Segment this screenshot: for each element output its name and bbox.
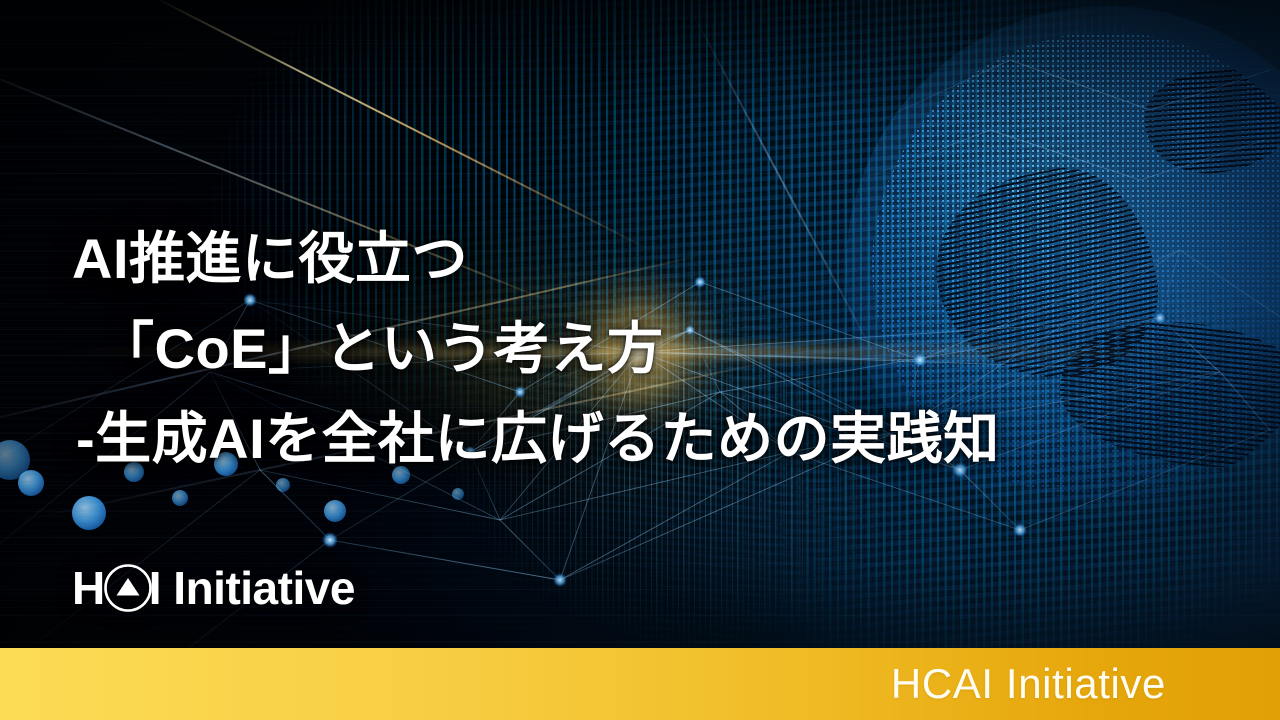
footer-bar: HCAI Initiative xyxy=(0,648,1280,720)
slide-title: AI推進に役立つ 「CoE」という考え方 -生成AIを全社に広げるための実践知 xyxy=(72,214,1232,484)
network-node-dot xyxy=(0,440,30,480)
network-node-dot xyxy=(72,496,106,530)
logo-letter-h: H xyxy=(72,565,105,611)
network-node-dot xyxy=(172,490,188,506)
circled-chevron-logo-icon xyxy=(102,562,154,614)
hcai-initiative-logo: H I Initiative xyxy=(72,558,355,618)
network-node-dot xyxy=(18,470,44,496)
light-streak xyxy=(149,0,649,250)
slide-title-line-3: -生成AIを全社に広げるための実践知 xyxy=(72,394,1232,484)
slide-title-line-2: 「CoE」という考え方 xyxy=(72,304,1232,394)
logo-wordmark-suffix: I Initiative xyxy=(149,565,355,611)
slide-title-line-1: AI推進に役立つ xyxy=(72,214,1232,304)
presentation-slide: AI推進に役立つ 「CoE」という考え方 -生成AIを全社に広げるための実践知 … xyxy=(0,0,1280,720)
network-node-dot xyxy=(452,488,464,500)
footer-title: HCAI Initiative xyxy=(891,663,1280,705)
network-node-dot xyxy=(324,500,346,522)
landmass-shape xyxy=(1141,65,1280,178)
